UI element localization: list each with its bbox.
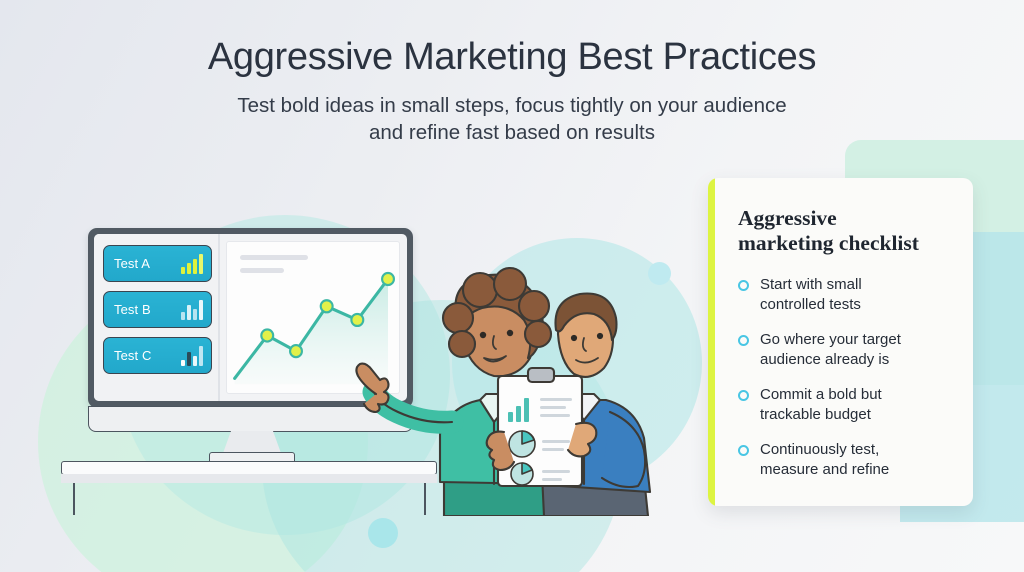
checklist-item[interactable]: Continuously test, measure and refine xyxy=(738,440,955,480)
circle-bullet-icon xyxy=(738,390,749,401)
checklist-item[interactable]: Commit a bold but trackable budget xyxy=(738,385,955,425)
screen-panel-divider xyxy=(218,234,220,401)
test-card-c-label: Test C xyxy=(114,348,151,363)
checklist-item-line: controlled tests xyxy=(760,295,862,315)
clipboard xyxy=(487,368,597,486)
checklist-heading-line-2: marketing checklist xyxy=(738,231,955,256)
bar-chart-icon xyxy=(181,300,203,320)
circle-bullet-icon xyxy=(738,335,749,346)
checklist-item[interactable]: Start with small controlled tests xyxy=(738,275,955,315)
checklist-item[interactable]: Go where your target audience already is xyxy=(738,330,955,370)
page-title: Aggressive Marketing Best Practices xyxy=(0,36,1024,79)
infographic-canvas: Aggressive Marketing Best Practices Test… xyxy=(0,0,1024,572)
checklist-accent-bar xyxy=(708,178,715,506)
checklist-heading: Aggressive marketing checklist xyxy=(738,206,955,256)
checklist-item-text: Continuously test, measure and refine xyxy=(760,440,889,480)
checklist-item-text: Commit a bold but trackable budget xyxy=(760,385,882,425)
bar-chart-icon xyxy=(181,346,203,366)
test-card-a[interactable]: Test A xyxy=(103,245,212,282)
checklist-item-line: Continuously test, xyxy=(760,440,889,460)
page-subtitle-line-1: Test bold ideas in small steps, focus ti… xyxy=(142,92,882,119)
test-card-b[interactable]: Test B xyxy=(103,291,212,328)
page-subtitle-line-2: and refine fast based on results xyxy=(142,119,882,146)
checklist-body: Aggressive marketing checklist Start wit… xyxy=(738,206,955,495)
test-card-a-label: Test A xyxy=(114,256,150,271)
circle-bullet-icon xyxy=(738,445,749,456)
checklist-item-text: Go where your target audience already is xyxy=(760,330,901,370)
checklist-item-line: Commit a bold but xyxy=(760,385,882,405)
desk-leg-left xyxy=(73,483,75,515)
bar-chart-icon xyxy=(181,254,203,274)
checklist-item-line: Go where your target xyxy=(760,330,901,350)
decorative-dot-lower xyxy=(368,518,398,548)
circle-bullet-icon xyxy=(738,280,749,291)
checklist-item-line: measure and refine xyxy=(760,460,889,480)
checklist-item-line: Start with small xyxy=(760,275,862,295)
test-card-b-label: Test B xyxy=(114,302,151,317)
checklist-item-line: audience already is xyxy=(760,350,901,370)
checklist-card: Aggressive marketing checklist Start wit… xyxy=(708,178,973,506)
checklist-item-line: trackable budget xyxy=(760,405,882,425)
test-card-c[interactable]: Test C xyxy=(103,337,212,374)
test-list-panel: Test A Test B xyxy=(94,234,218,401)
checklist-item-text: Start with small controlled tests xyxy=(760,275,862,315)
people-illustration xyxy=(352,234,688,516)
page-subtitle: Test bold ideas in small steps, focus ti… xyxy=(142,92,882,146)
checklist-heading-line-1: Aggressive xyxy=(738,206,955,231)
